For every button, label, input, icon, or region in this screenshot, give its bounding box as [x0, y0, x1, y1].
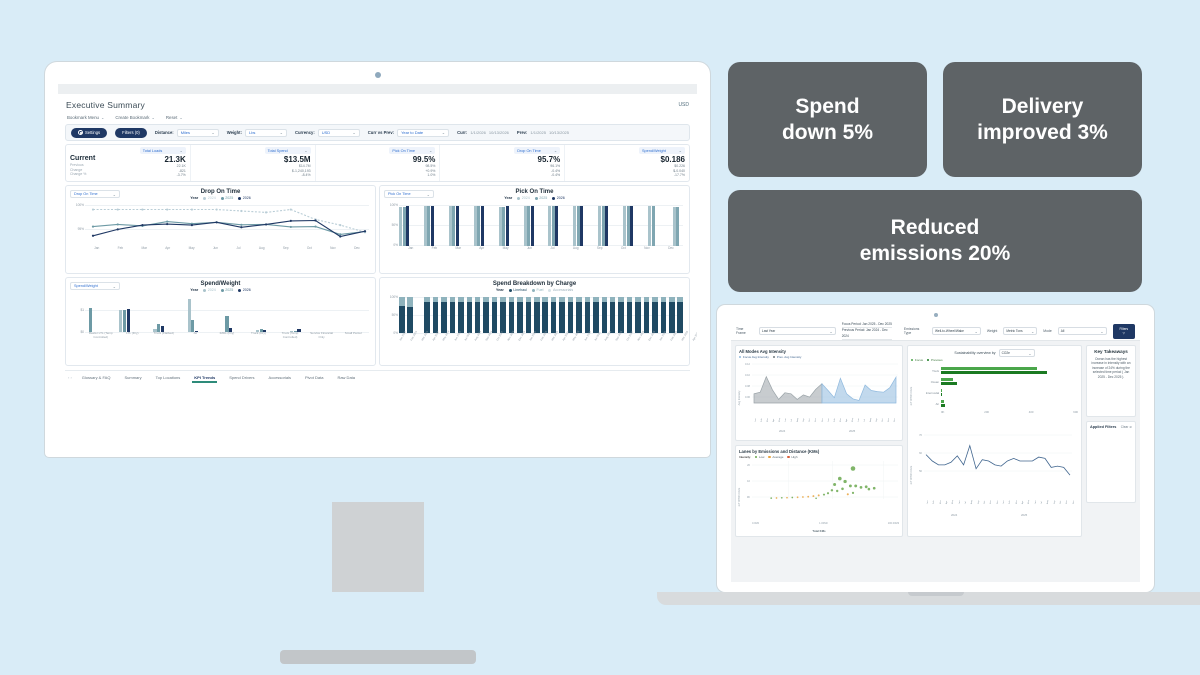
weight-value: Metric Tons — [1006, 329, 1022, 333]
filters-button[interactable]: Filters ▽ — [1113, 324, 1135, 339]
weight-select[interactable]: Metric Tons ⌄ — [1003, 327, 1037, 335]
legend-swatch — [773, 356, 775, 358]
bookmark-menu-button[interactable]: Bookmark Menu ⌄ — [67, 115, 104, 120]
legend-swatch — [221, 289, 224, 292]
y-tick: 50% — [392, 223, 398, 227]
bar-segment — [618, 302, 624, 333]
tab-bar: ‹ › Glossary & FAQSummaryTop LocationsKP… — [65, 370, 690, 383]
kpi-metric-select[interactable]: Total Loads ⌄ — [140, 147, 186, 154]
legend-swatch — [755, 456, 757, 458]
bar-segment — [458, 302, 464, 333]
stacked-bar — [483, 294, 489, 333]
time-frame-select[interactable]: Last Year ⌄ — [759, 327, 836, 335]
weight-select[interactable]: Lbs ⌄ — [245, 129, 287, 137]
bar-group — [188, 294, 199, 332]
laptop-bezel: Time Frame Last Year ⌄ Focus Period: Jan… — [717, 305, 1154, 592]
bar-group — [673, 202, 683, 246]
bar-segment — [669, 302, 675, 333]
x-tick: 200 — [984, 410, 989, 414]
previous-to: 10/13/2025 — [549, 130, 569, 135]
y-axis: 706050 — [911, 431, 923, 489]
bar-series — [399, 202, 683, 246]
tab-glossary-faq[interactable]: Glossary & FAQ — [75, 372, 118, 383]
tab-summary[interactable]: Summary — [117, 372, 148, 383]
chart-card-spend-weight: Spend/Weight ⌄ Spend/Weight Year 2024 20… — [65, 277, 376, 366]
bar-segment — [534, 302, 540, 333]
y-tick: 100% — [390, 295, 398, 299]
y-tick: 0.06 — [745, 396, 750, 399]
stacked-bar — [669, 294, 675, 333]
gear-icon — [78, 130, 83, 135]
current-from: 1/1/2026 — [470, 130, 486, 135]
distance-filter: Distance: Miles ⌄ — [155, 129, 219, 137]
legend-item: 2024 — [517, 196, 530, 200]
bar-segment — [576, 302, 582, 333]
stacked-bar — [526, 294, 532, 333]
bar-series — [85, 294, 369, 332]
legend-item: 2025 — [221, 196, 234, 200]
chart-title: Lanes by Emissions and Distance (KMs) — [739, 449, 899, 454]
kpi-card: Total Spend ⌄ $13.5M $14.7M $-1,240,193 … — [191, 145, 316, 181]
stacked-bar — [424, 294, 430, 333]
spend-weight-metric-select[interactable]: Spend/Weight ⌄ — [70, 282, 120, 290]
chevron-down-icon: ⌄ — [211, 130, 214, 135]
bar-segment — [559, 302, 565, 333]
bar-segment — [610, 302, 616, 333]
legend-item: Fuel — [532, 288, 544, 292]
weight-label: Weight — [987, 329, 998, 333]
tab-raw-data[interactable]: Raw Data — [330, 372, 362, 383]
bar — [555, 206, 558, 246]
x-tick: Air — [182, 332, 208, 346]
bar-segment — [627, 302, 633, 333]
kpi-values: 21.3K 22.1K -821 -3.7% — [164, 155, 185, 178]
bar — [676, 207, 679, 246]
bar-segment — [593, 302, 599, 333]
bar-segment — [677, 302, 683, 333]
chevron-down-icon: ⌄ — [1028, 351, 1031, 356]
bar-segment — [433, 302, 439, 333]
y-tick: 0% — [393, 331, 398, 335]
stacked-bar — [433, 294, 439, 333]
stacked-bar — [416, 294, 422, 333]
charts-grid: Drop On Time ⌄ Drop On Time Year 2024 20… — [65, 185, 690, 366]
bar-group — [524, 202, 534, 246]
legend-swatch — [787, 456, 789, 458]
stacked-bar — [627, 294, 633, 333]
sustainability-dashboard: All Modes Avg Intensity Focus Avg Intens… — [731, 341, 1140, 541]
chart-legend: Focus Previous — [911, 358, 1078, 362]
kpi-current-value: 21.3K — [164, 155, 185, 164]
x-tick: Jun — [527, 246, 532, 254]
bar-segment — [652, 302, 658, 333]
kpi-card: Pick On Time ⌄ 99.5% 98.5% +0.9% 1.0% — [316, 145, 441, 181]
bar-segment — [644, 302, 650, 333]
x-tick: Sep — [597, 246, 603, 254]
hbar-stack — [941, 389, 1078, 397]
stacked-bar — [467, 294, 473, 333]
x-tick: Jul — [236, 246, 240, 254]
x-tick: Mar — [141, 246, 147, 254]
kpi-change-pct-label: Change % — [70, 172, 95, 177]
chart-legend: Intensity: Low Average High — [739, 455, 899, 459]
current-date-range: Curr: 1/1/2026 10/13/2026 — [457, 130, 509, 135]
bar-group — [290, 294, 301, 332]
tab-top-locations[interactable]: Top Locations — [149, 372, 188, 383]
line-series-svg — [85, 202, 373, 246]
legend-item: Accessorials — [548, 288, 573, 292]
tab-spend-drivers[interactable]: Spend Drivers — [222, 372, 261, 383]
legend-text: 2025 — [225, 288, 233, 292]
kpi-values: $0.186 $0.226 $-0.040 -17.7% — [661, 155, 685, 178]
x-group-label: 2025 — [1021, 513, 1027, 517]
curr-vs-prev-select[interactable]: Year to Date ⌄ — [397, 129, 449, 137]
x-tick: LTL (Dry) — [119, 332, 145, 346]
legend-item: 2025 — [221, 288, 234, 292]
bar-group — [358, 294, 369, 332]
sustainability-overview-label: Sustainability overview by — [954, 351, 995, 355]
bar-group — [399, 202, 409, 246]
hbar-stack — [941, 400, 1078, 408]
kpi-metric-select[interactable]: Drop On Time ⌄ — [514, 147, 560, 154]
legend-text: 2024 — [208, 196, 216, 200]
webcam-icon — [934, 313, 938, 317]
y-axis: 100%95% — [70, 202, 85, 246]
legend-label: Year — [504, 196, 512, 200]
x-tick: Apr 2026 — [692, 331, 697, 342]
bar-segment — [407, 297, 413, 307]
bar-segment — [526, 302, 532, 333]
bar-group — [573, 202, 583, 246]
legend-swatch — [238, 197, 241, 200]
curr-vs-prev-value: Year to Date — [401, 130, 423, 135]
kpi-card: Total Loads ⌄ Current Previous Change Ch… — [66, 145, 191, 181]
legend-item: High — [787, 455, 797, 459]
filter-bar: Settings Filters (0) Distance: Miles ⌄ W… — [65, 124, 690, 141]
webcam-icon — [375, 72, 381, 78]
bar-segment — [542, 302, 548, 333]
applied-filters-title: Applied Filters — [1090, 425, 1116, 429]
panel-lanes-emissions-distance: Lanes by Emissions and Distance (KMs) In… — [735, 445, 903, 537]
sustainability-overview-value: CO2e — [1002, 351, 1010, 355]
bar-segment — [399, 297, 405, 306]
stacked-bar — [407, 294, 413, 333]
bar — [456, 206, 459, 246]
bar — [630, 206, 633, 246]
chart-legend: Focus Avg Intensity Prev. Avg Intensity — [739, 355, 899, 359]
legend-swatch — [552, 197, 555, 200]
bar-group — [623, 202, 633, 246]
kpi-change-pct-value: -0.4% — [538, 173, 561, 178]
chart-plot-area: 100%50%0% JanFebMarAprMayJunJulAugSepOct… — [384, 202, 685, 254]
page-title: Executive Summary — [66, 100, 145, 110]
stacked-bar — [652, 294, 658, 333]
distance-select[interactable]: Miles ⌄ — [177, 129, 219, 137]
legend-swatch — [517, 197, 520, 200]
clear-filters-button[interactable]: Clear ⊘ — [1121, 425, 1132, 429]
stacked-bar — [542, 294, 548, 333]
tab-list: Glossary & FAQSummaryTop LocationsKPI Tr… — [75, 372, 362, 383]
settings-label: Settings — [85, 130, 100, 135]
kpi-card: Spend/Weight ⌄ $0.186 $0.226 $-0.040 -17… — [565, 145, 689, 181]
legend-text: 2026 — [243, 196, 251, 200]
x-tick: Oct — [307, 246, 312, 254]
chart-plot-area-trend: mT WTW CO2e 706050 JanFebMarAprMayJunJul… — [911, 431, 1078, 519]
bar-segment — [467, 302, 473, 333]
legend-text: 2026 — [557, 196, 565, 200]
legend-item: 2026 — [238, 288, 251, 292]
callout-card-delivery: Delivery improved 3% — [943, 62, 1142, 177]
hbar — [941, 367, 1037, 371]
legend-text: Previous — [931, 358, 943, 362]
currency-select[interactable]: USD ⌄ — [318, 129, 360, 137]
legend-swatch — [203, 197, 206, 200]
hbar-label: Ocean — [917, 380, 939, 384]
x-tick: May — [503, 246, 509, 254]
legend-text: Focus — [915, 358, 923, 362]
bar-segment — [602, 302, 608, 333]
y-tick: 60 — [919, 452, 922, 455]
kpi-values: 99.5% 98.5% +0.9% 1.0% — [413, 155, 436, 178]
legend-text: Focus Avg Intensity — [743, 355, 769, 359]
panel-all-modes-avg-intensity: All Modes Avg Intensity Focus Avg Intens… — [735, 345, 903, 441]
x-tick: Dec — [668, 246, 674, 254]
bar-group — [648, 202, 658, 246]
y-tick: 95% — [78, 227, 84, 231]
legend-item: Linehaul — [509, 288, 527, 292]
stacked-bar — [458, 294, 464, 333]
kpi-metric-select[interactable]: Spend/Weight ⌄ — [639, 147, 685, 154]
chevron-down-icon: ⌄ — [829, 329, 832, 334]
drop-on-time-metric-select[interactable]: Drop On Time ⌄ — [70, 190, 120, 198]
mode-value: All — [1061, 329, 1065, 333]
kpi-metric-select[interactable]: Total Spend ⌄ — [265, 147, 311, 154]
x-tick: Service Financial Only — [309, 332, 335, 346]
x-axis: 0.0Mil1.00Mil100.00Mil — [752, 522, 899, 525]
stacked-bar — [509, 294, 515, 333]
x-tick: Dec — [354, 246, 360, 254]
callout-card-spend: Spend down 5% — [728, 62, 927, 177]
stacked-bar — [585, 294, 591, 333]
kpi-current-label: Current — [70, 155, 95, 163]
kpi-current-value: 99.5% — [413, 155, 436, 164]
x-tick: Jan — [94, 246, 99, 254]
y-tick: 10 — [747, 480, 750, 483]
chevron-down-icon: ⌄ — [179, 148, 182, 153]
x-tick: Aug — [573, 246, 579, 254]
bar-group — [119, 294, 130, 332]
chevron-down-icon: ⌄ — [974, 329, 977, 334]
chevron-down-icon: ⌄ — [352, 130, 355, 135]
bar-segment — [450, 302, 456, 333]
bar — [605, 206, 608, 246]
x-tick: Truck (Flatbed) — [151, 332, 177, 346]
drop-on-time-select-value: Drop On Time — [74, 192, 98, 196]
kpi-metric-name: Total Spend — [268, 149, 288, 153]
chart-card-spend-breakdown: Spend Breakdown by Charge Year Linehaul … — [379, 277, 690, 366]
stacked-bar — [534, 294, 540, 333]
bar-group — [499, 202, 509, 246]
pick-on-time-metric-select[interactable]: Pick On Time ⌄ — [384, 190, 434, 198]
legend-swatch — [535, 197, 538, 200]
kpi-change-pct-value: -8.4% — [284, 173, 311, 178]
legend-label: Intensity: — [739, 455, 751, 459]
bar-segment — [475, 302, 481, 333]
stacked-bar — [475, 294, 481, 333]
chart-card-drop-on-time: Drop On Time ⌄ Drop On Time Year 2024 20… — [65, 185, 376, 274]
kpi-current-value: $0.186 — [661, 155, 685, 164]
bar-group — [474, 202, 484, 246]
stacked-bar — [618, 294, 624, 333]
bar-group — [153, 294, 164, 332]
y-tick: 100% — [76, 203, 84, 207]
filters-button[interactable]: Filters (0) — [115, 128, 147, 138]
x-axis: Jan 2024Feb 2024Mar 2024Apr 2024May 2024… — [399, 340, 683, 348]
x-axis-label: Total KMs — [739, 529, 899, 533]
chevron-down-icon: ⌄ — [1031, 329, 1034, 334]
x-group-label: 2024 — [779, 429, 785, 433]
kpi-metric-name: Pick On Time — [392, 149, 415, 153]
legend-swatch — [927, 359, 929, 361]
legend-item: 2024 — [203, 196, 216, 200]
panel-sustainability-overview: Sustainability overview by CO2e ⌄ Focus … — [907, 345, 1082, 537]
legend-text: Prev. Avg Intensity — [777, 355, 802, 359]
bar-group — [424, 202, 434, 246]
x-tick: 0K — [941, 410, 944, 414]
reset-label: Reset — [166, 115, 177, 120]
kpi-card: Drop On Time ⌄ 95.7% 96.1% -0.4% -0.4% — [440, 145, 565, 181]
chevron-down-icon: ⌄ — [554, 148, 557, 153]
y-tick: 0.12 — [745, 363, 750, 366]
funnel-icon: ▽ — [1123, 331, 1125, 335]
bar — [506, 206, 509, 246]
legend-swatch — [509, 289, 512, 292]
create-bookmark-button[interactable]: Create Bookmark ⌄ — [115, 115, 155, 120]
callout-line1: Delivery — [977, 94, 1108, 120]
legend-item: Focus Avg Intensity — [739, 355, 769, 359]
chevron-down-icon: ⌄ — [1100, 329, 1103, 334]
x-tick: Truck (Dry) — [246, 332, 272, 346]
legend-item: 2024 — [203, 288, 216, 292]
bar-group — [598, 202, 608, 246]
settings-button[interactable]: Settings — [71, 128, 107, 138]
app-header: Executive Summary USD — [58, 94, 697, 112]
x-tick: Jun — [213, 246, 218, 254]
stacked-bar — [492, 294, 498, 333]
key-takeaways-title: Key Takeaways — [1090, 349, 1132, 354]
stacked-bar — [576, 294, 582, 333]
kpi-change-pct-value: -17.7% — [661, 173, 685, 178]
tab-pivot-data[interactable]: Pivot Data — [298, 372, 330, 383]
bar — [652, 206, 655, 246]
emissions-type-select[interactable]: Well-to-Wheel/Wake ⌄ — [932, 327, 981, 335]
x-axis: 0K200400600 — [941, 410, 1078, 414]
desktop-monitor: Executive Summary USD Bookmark Menu ⌄ Cr… — [45, 62, 710, 524]
time-frame-value: Last Year — [762, 329, 775, 333]
sustainability-overview-select[interactable]: CO2e ⌄ — [999, 349, 1035, 357]
legend-swatch — [203, 289, 206, 292]
bar-group — [256, 294, 267, 332]
legend-label: Year — [190, 196, 198, 200]
chevron-down-icon: ⌄ — [427, 192, 430, 197]
y-axis: 100%50%0% — [384, 294, 399, 338]
hbar-row: Air — [917, 398, 1078, 409]
legend-text: Low — [759, 455, 765, 459]
mode-select[interactable]: All ⌄ — [1058, 327, 1107, 335]
bar-segment — [500, 302, 506, 333]
x-axis: Reefer LTL (Temp Controlled)LTL (Dry)Tru… — [85, 332, 369, 346]
callout-line2: down 5% — [782, 120, 873, 146]
hbar-label: Truck — [917, 369, 939, 373]
tab-scroll-left-icon[interactable]: ‹ › — [65, 375, 75, 380]
curr-vs-prev-filter: Curr vs Prev: Year to Date ⌄ — [368, 129, 449, 137]
stacked-bar — [644, 294, 650, 333]
x-tick: Feb — [432, 246, 438, 254]
x-tick: IMDL (Dry) — [214, 332, 240, 346]
weight-filter: Weight: Lbs ⌄ — [227, 129, 287, 137]
legend-item: 2025 — [535, 196, 548, 200]
x-tick: Truck (Temp Controlled) — [277, 332, 303, 346]
y-tick: 50% — [392, 313, 398, 317]
chart-title: All Modes Avg Intensity — [739, 349, 899, 354]
y-tick: 0K — [747, 496, 750, 499]
legend-swatch — [739, 356, 741, 358]
stacked-bar — [610, 294, 616, 333]
hbar — [941, 393, 942, 397]
kpi-metric-name: Drop On Time — [517, 149, 541, 153]
bar-segment — [399, 306, 405, 333]
x-tick: Mar — [455, 246, 461, 254]
hbar-label: Intermodal — [917, 391, 939, 395]
legend-swatch — [548, 289, 551, 292]
current-label: Curr: — [457, 130, 467, 135]
tab-kpi-trends[interactable]: KPI Trends — [187, 372, 222, 383]
hbar-row: Truck — [917, 365, 1078, 376]
bar-group — [324, 294, 335, 332]
legend-text: 2025 — [539, 196, 547, 200]
monitor-bezel: Executive Summary USD Bookmark Menu ⌄ Cr… — [45, 62, 710, 457]
x-tick: Sep — [283, 246, 289, 254]
bar-segment — [407, 307, 413, 333]
previous-date-range: Prev: 1/1/2025 10/13/2025 — [517, 130, 569, 135]
kpi-metric-select[interactable]: Pick On Time ⌄ — [389, 147, 435, 154]
bar-segment — [551, 302, 557, 333]
callout-line2: improved 3% — [977, 120, 1108, 146]
x-tick: Apr — [165, 246, 170, 254]
hbar — [941, 389, 942, 393]
stacked-bar — [593, 294, 599, 333]
legend-swatch — [221, 197, 224, 200]
legend-item: Low — [755, 455, 764, 459]
tab-accessorials[interactable]: Accessorials — [262, 372, 298, 383]
reset-button[interactable]: Reset ⌄ — [166, 115, 183, 120]
emissions-type-value: Well-to-Wheel/Wake — [935, 329, 964, 333]
x-tick: Small Parcel — [340, 332, 366, 346]
monitor-base — [280, 650, 476, 664]
legend-text: Fuel — [536, 288, 543, 292]
chart-legend: Year Linehaul Fuel Accessorials — [384, 288, 685, 292]
kpi-change-pct-value: -3.7% — [164, 173, 185, 178]
stacked-bar — [661, 294, 667, 333]
bar-segment — [568, 302, 574, 333]
period-info: Focus Period: Jan 2025 - Dec 2025 Previo… — [842, 322, 892, 340]
stacked-bar — [568, 294, 574, 333]
kpi-values: $13.5M $14.7M $-1,240,193 -8.4% — [284, 155, 311, 178]
kpi-strip: Total Loads ⌄ Current Previous Change Ch… — [65, 144, 690, 182]
laptop: Time Frame Last Year ⌄ Focus Period: Jan… — [717, 305, 1154, 605]
panel-applied-filters: Applied Filters Clear ⊘ — [1086, 421, 1136, 503]
y-axis: $1$0 — [70, 294, 85, 338]
